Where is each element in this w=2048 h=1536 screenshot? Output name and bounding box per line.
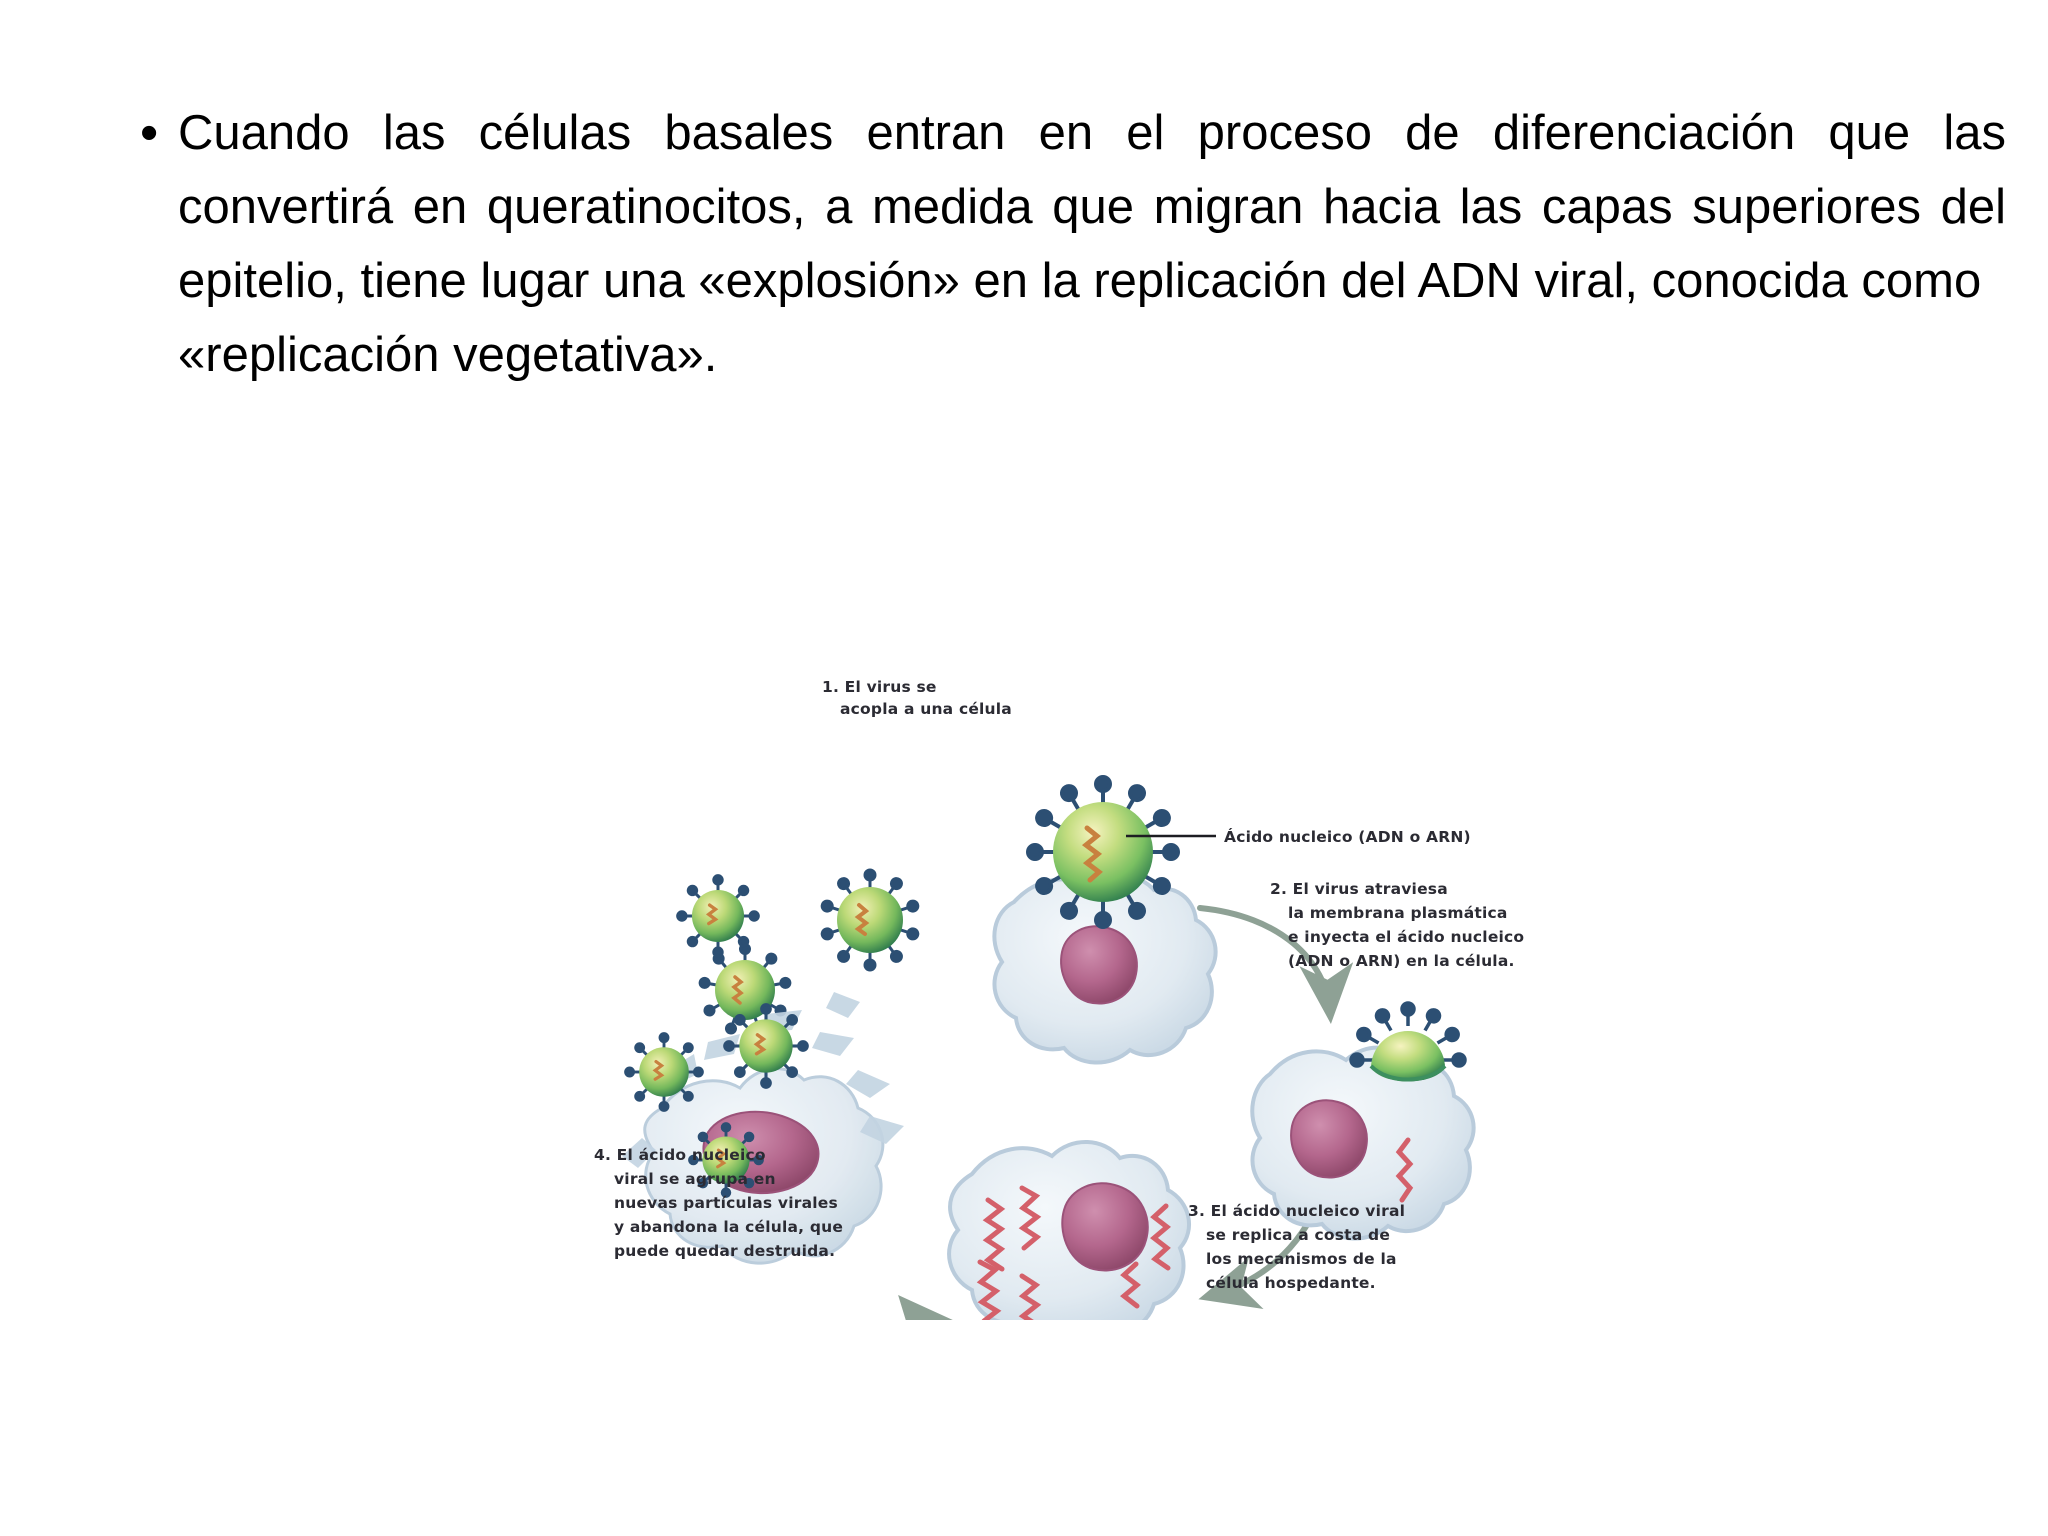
viral-replication-cycle-figure: 1. El virus se acopla a una célula Ácido… [570, 640, 1530, 1320]
bullet-body-main: Cuando las células basales entran en el … [178, 106, 2006, 308]
step4-label-line5: puede quedar destruida. [614, 1242, 835, 1260]
step1-label-line2: acopla a una célula [840, 700, 1012, 718]
bullet-row: • Cuando las células basales entran en e… [136, 96, 2006, 392]
step3-label-line4: célula hospedante. [1206, 1274, 1376, 1292]
step2-label-line4: (ADN o ARN) en la célula. [1288, 952, 1515, 970]
step4-label-line1: 4. El ácido nucleico [594, 1146, 766, 1164]
bullet-body-text: Cuando las células basales entran en el … [178, 96, 2006, 392]
step1-label-line1: 1. El virus se [822, 678, 937, 696]
step3-label-line1: 3. El ácido nucleico viral [1188, 1202, 1405, 1220]
slide-canvas: • Cuando las células basales entran en e… [0, 0, 2048, 1536]
virus-particle-free-1 [821, 870, 919, 970]
step4-label-line4: y abandona la célula, que [614, 1218, 843, 1236]
bullet-marker-icon: • [136, 96, 178, 170]
host-cell-step3 [949, 1142, 1189, 1320]
nucleus-step2 [1291, 1100, 1367, 1177]
arrow-step3-to-step4 [906, 1304, 970, 1320]
bullet-body-last-line: «replicación vegetativa». [178, 318, 2006, 392]
step2-label-line2: la membrana plasmática [1288, 904, 1508, 922]
nucleus-step3 [1062, 1183, 1147, 1270]
bullet-paragraph-block: • Cuando las células basales entran en e… [136, 96, 2006, 392]
step3-label-line3: los mecanismos de la [1206, 1250, 1397, 1268]
nucleus-step1 [1061, 926, 1137, 1003]
nucleic-acid-callout-label: Ácido nucleico (ADN o ARN) [1224, 827, 1471, 846]
step4-label-line2: viral se agrupa en [614, 1170, 776, 1188]
step3-group [949, 1142, 1189, 1320]
step4-label-line3: nuevas partículas virales [614, 1194, 838, 1212]
step2-label-line1: 2. El virus atraviesa [1270, 880, 1448, 898]
step2-label-line3: e inyecta el ácido nucleico [1288, 928, 1524, 946]
step3-label-line2: se replica a costa de [1206, 1226, 1390, 1244]
